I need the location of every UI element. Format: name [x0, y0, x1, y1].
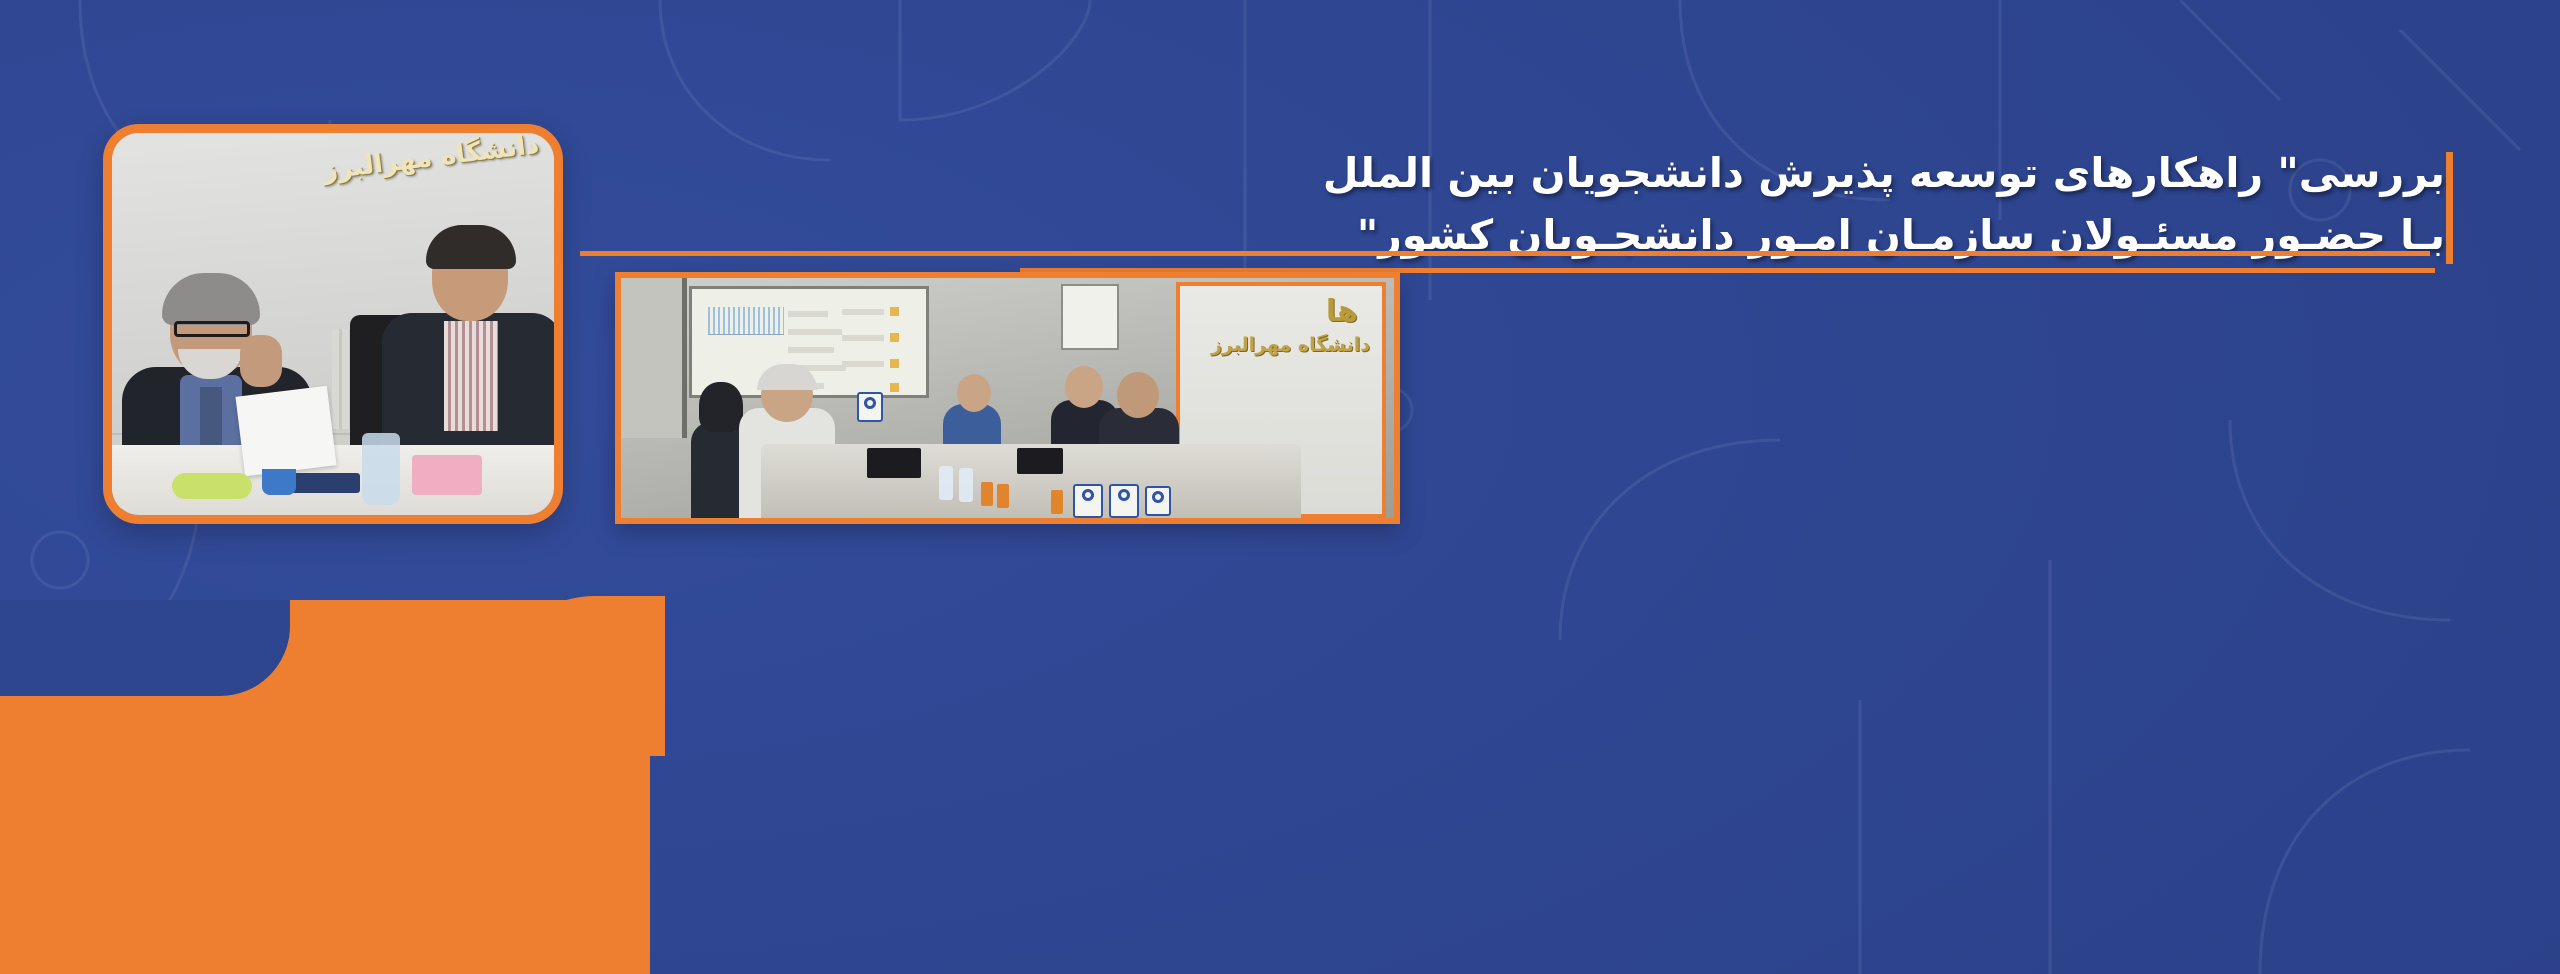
orange-block-corner-curve: [495, 596, 665, 756]
water-bottle-icon-2: [959, 468, 973, 502]
banner-headline: بررسی" راهکارهای توسعه پذیرش دانشجویان ب…: [1045, 142, 2445, 267]
water-bottle-icon: [939, 466, 953, 500]
juice-can-icon: [981, 482, 993, 506]
logo-mark: ها: [1326, 294, 1358, 329]
document-stand-icon: [857, 392, 883, 422]
banner-stage: دانشگاه مهرالبرز بررسی" راهکارها: [0, 0, 2560, 974]
orange-block-notch: [0, 600, 290, 696]
attendee-4-head: [957, 374, 991, 412]
bottle-icon: [362, 433, 400, 505]
cup-icon: [262, 469, 296, 495]
tissue-box-icon: [412, 455, 482, 495]
juice-can-icon-2: [997, 484, 1009, 508]
screen-chart-icon: [708, 307, 784, 335]
document-stand-icon-4: [1145, 486, 1171, 516]
headline-line-2: بـا حضـور مسئـولان سازمـان امـور دانشجـو…: [1045, 204, 2445, 266]
paper-sheet-icon: [235, 386, 336, 477]
document-stand-icon-3: [1109, 484, 1139, 518]
headline-accent-bar: [2446, 152, 2453, 264]
left-photo-scene: دانشگاه مهرالبرز: [112, 133, 554, 515]
document-stand-icon-2: [1073, 484, 1103, 518]
pen-holder-icon: [290, 473, 360, 493]
headline-line-1: بررسی" راهکارهای توسعه پذیرش دانشجویان ب…: [1045, 142, 2445, 204]
attendee-6-head: [1117, 372, 1159, 418]
juice-can-icon-3: [1051, 490, 1063, 514]
attendee-1-head: [699, 382, 743, 432]
photo-card-left: دانشگاه مهرالبرز: [103, 124, 563, 524]
door-frame: [621, 278, 687, 438]
snack-plate-icon: [172, 473, 252, 499]
university-name-text: دانشگاه مهرالبرز: [1211, 334, 1370, 356]
wall-notice-board: [1061, 284, 1119, 350]
headline-divider-upper: [580, 251, 2430, 256]
attendee-5-head: [1065, 366, 1103, 408]
laptop-icon: [867, 448, 921, 478]
right-photo-scene: ها دانشگاه مهرالبرز: [621, 278, 1394, 518]
laptop-icon-2: [1017, 448, 1063, 474]
photo-card-right: ها دانشگاه مهرالبرز: [615, 272, 1400, 524]
